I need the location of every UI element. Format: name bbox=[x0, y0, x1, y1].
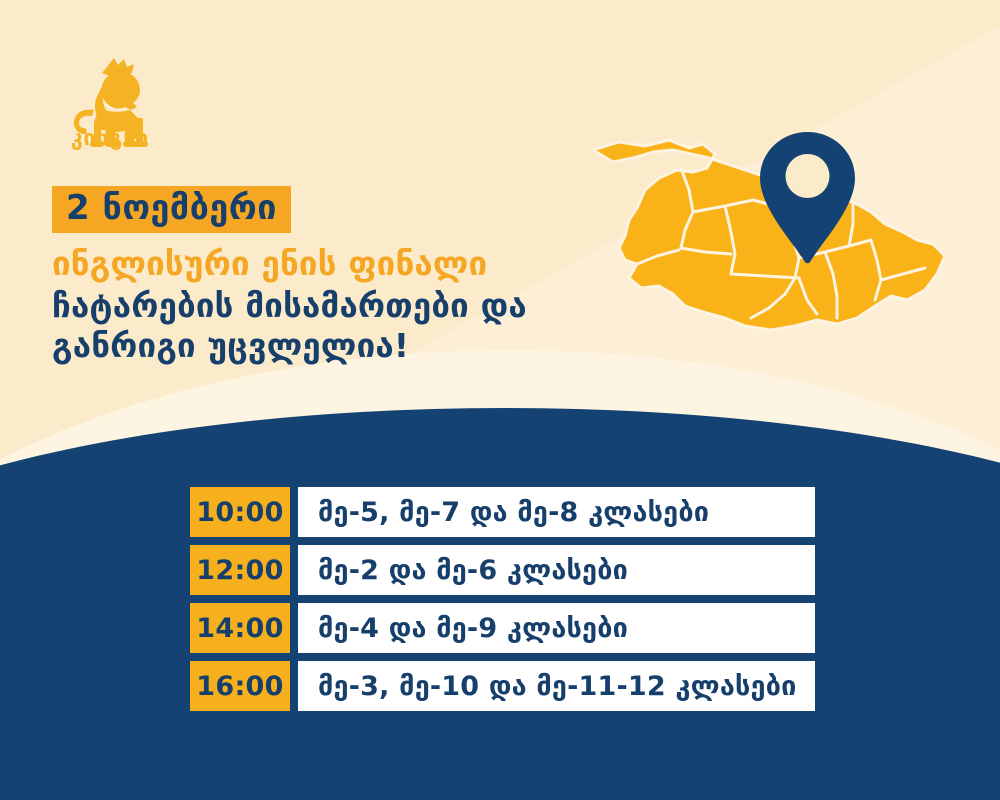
date-badge: 2 ნოემბერი bbox=[52, 186, 291, 233]
table-row: 12:00 მე-2 და მე-6 კლასები bbox=[190, 545, 815, 595]
schedule-time: 14:00 bbox=[190, 603, 290, 653]
schedule-time: 16:00 bbox=[190, 661, 290, 711]
table-row: 14:00 მე-4 და მე-9 კლასები bbox=[190, 603, 815, 653]
schedule-classes: მე-3, მე-10 და მე-11-12 კლასები bbox=[298, 661, 815, 711]
brand-logo bbox=[50, 48, 170, 168]
schedule-table: 10:00 მე-5, მე-7 და მე-8 კლასები 12:00 მ… bbox=[190, 487, 815, 711]
brand-logo-text: კინგსი bbox=[46, 126, 174, 150]
table-row: 16:00 მე-3, მე-10 და მე-11-12 კლასები bbox=[190, 661, 815, 711]
schedule-classes: მე-4 და მე-9 კლასები bbox=[298, 603, 815, 653]
schedule-time: 10:00 bbox=[190, 487, 290, 537]
poster-canvas: კინგსი 2 ნოემბერი ინგლისური ენის ფინალი … bbox=[0, 0, 1000, 800]
table-row: 10:00 მე-5, მე-7 და მე-8 კლასები bbox=[190, 487, 815, 537]
location-pin-icon bbox=[755, 130, 860, 265]
schedule-classes: მე-2 და მე-6 კლასები bbox=[298, 545, 815, 595]
schedule-time: 12:00 bbox=[190, 545, 290, 595]
schedule-classes: მე-5, მე-7 და მე-8 კლასები bbox=[298, 487, 815, 537]
